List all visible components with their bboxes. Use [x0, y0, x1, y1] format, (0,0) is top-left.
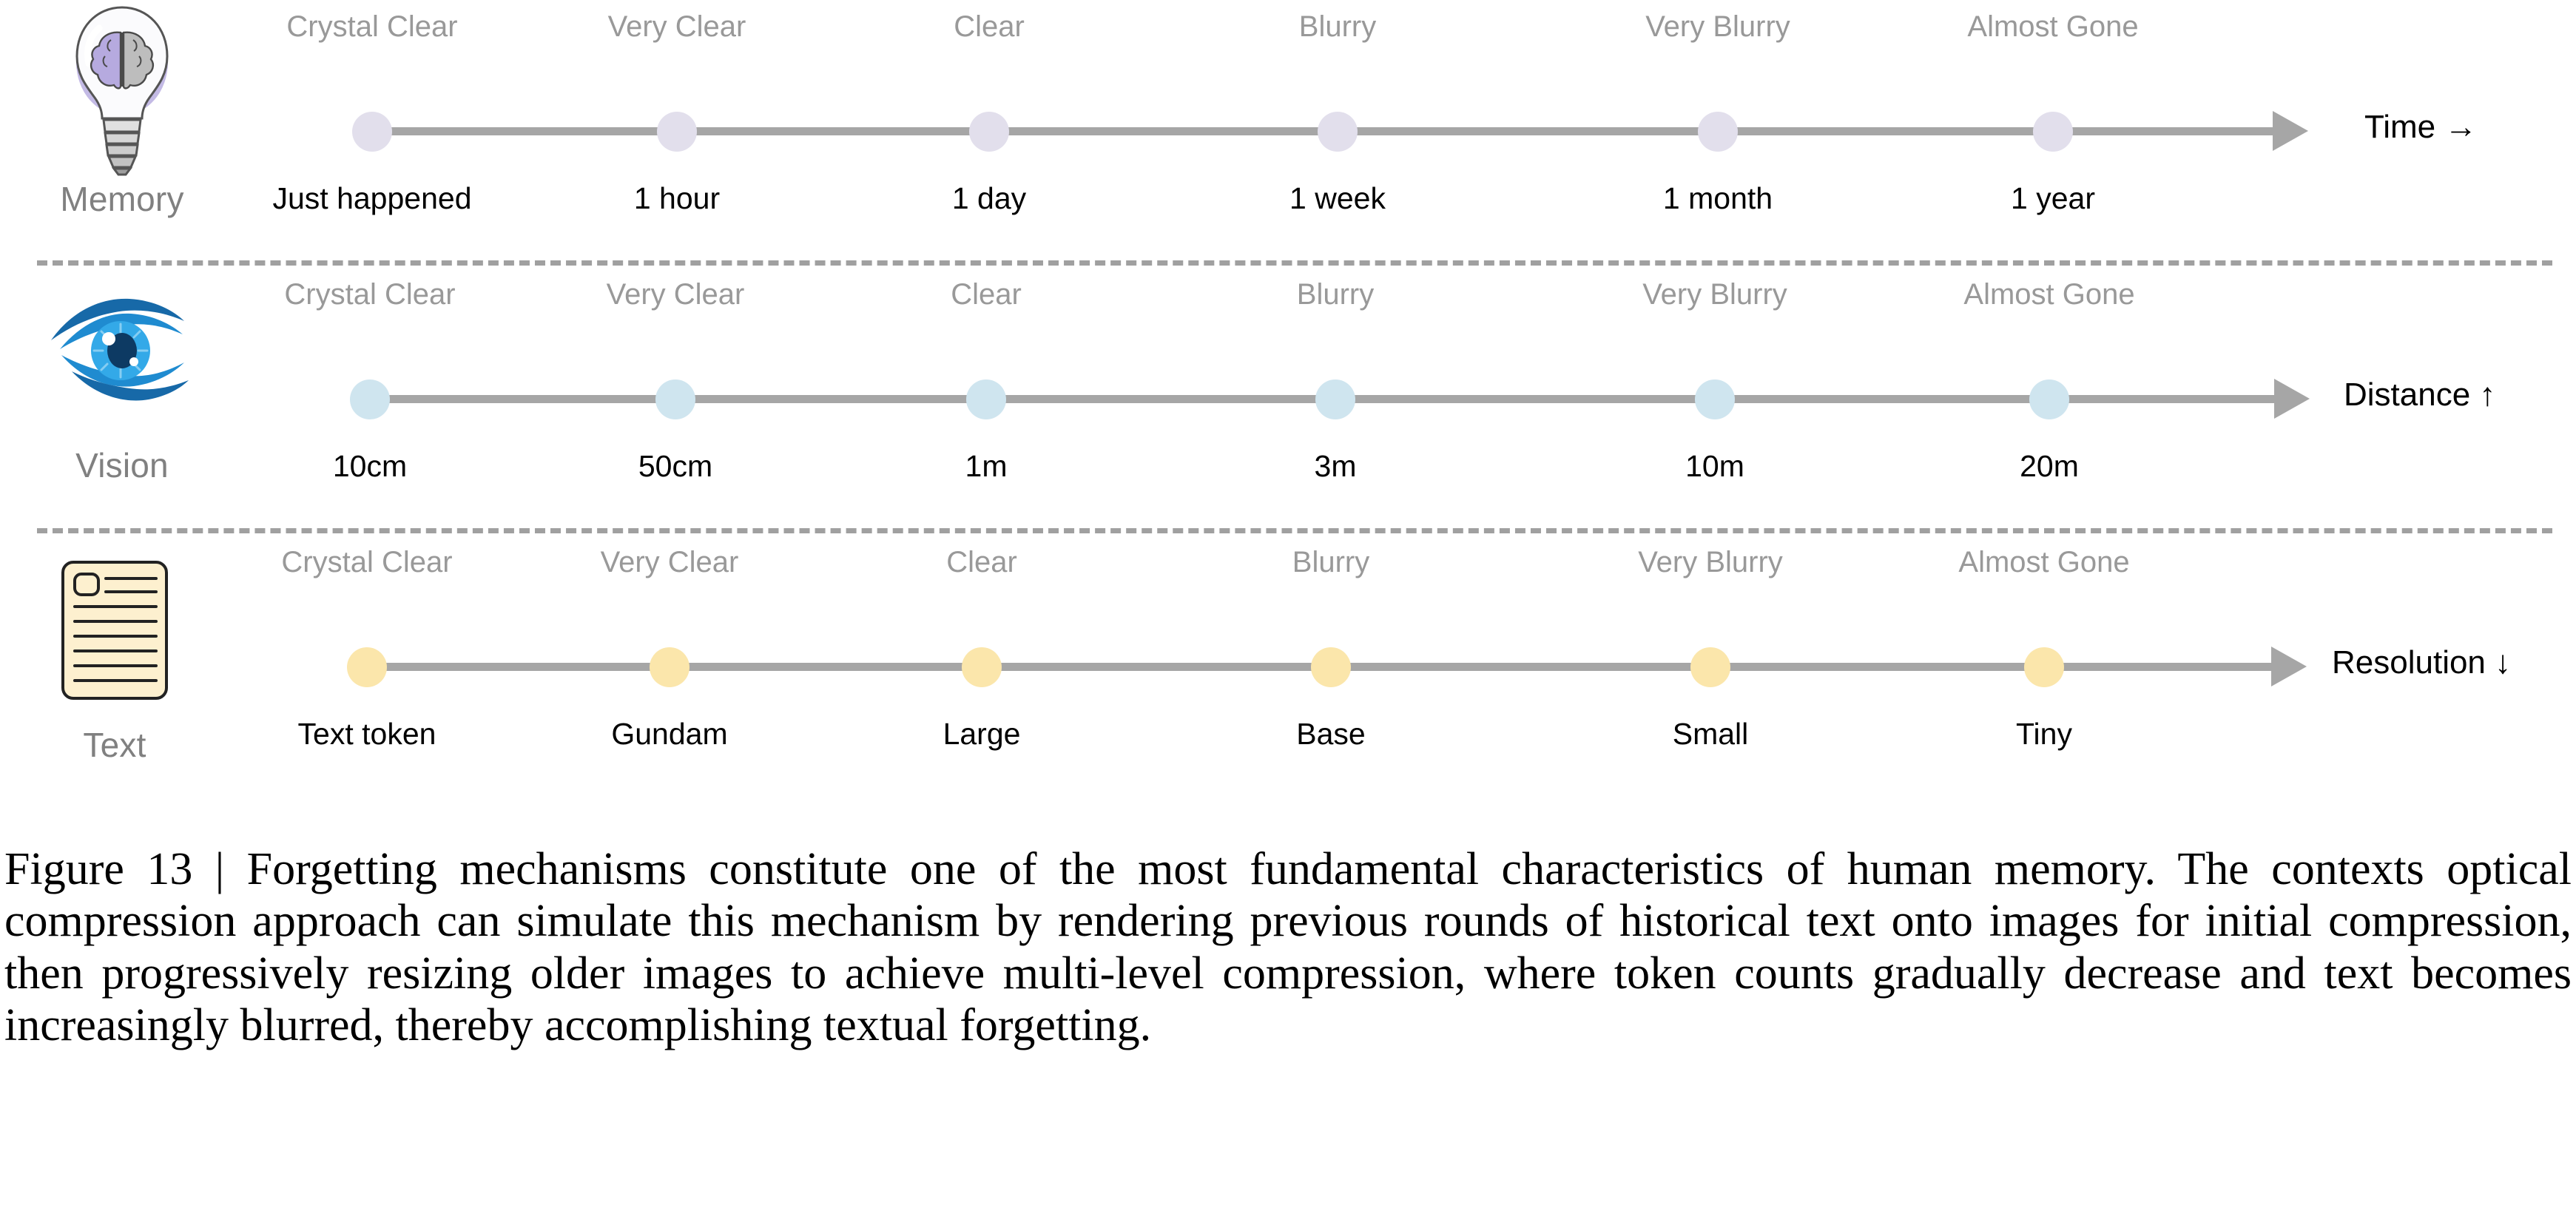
- quality-label: Very Clear: [608, 12, 746, 41]
- quality-label: Almost Gone: [1967, 12, 2138, 41]
- value-label: 20m: [2020, 451, 2079, 482]
- quality-label: Very Clear: [607, 280, 745, 309]
- value-label: 1 day: [952, 183, 1026, 214]
- row-memory: Memory Time → Crystal Clear Just happene…: [0, 0, 2576, 259]
- timeline-dot[interactable]: [1315, 379, 1355, 419]
- value-label: 1 year: [2011, 183, 2095, 214]
- value-label: Large: [943, 719, 1021, 749]
- value-label: Text token: [298, 719, 436, 749]
- quality-label: Blurry: [1297, 280, 1374, 309]
- quality-label: Clear: [954, 12, 1025, 41]
- row-label-memory: Memory: [0, 182, 244, 216]
- text-icon-block: Text: [0, 546, 237, 790]
- timeline-dot[interactable]: [1698, 112, 1738, 152]
- figure-caption: Figure 13 | Forgetting mechanisms consti…: [4, 843, 2572, 1051]
- quality-label: Very Blurry: [1642, 280, 1787, 309]
- vision-icon-block: Vision: [0, 277, 244, 521]
- value-label: 1 week: [1289, 183, 1386, 214]
- timeline-dot[interactable]: [347, 647, 387, 687]
- timeline-dot[interactable]: [655, 379, 695, 419]
- value-label: Base: [1296, 719, 1365, 749]
- row-divider: [37, 260, 2552, 266]
- figure-13: Memory Time → Crystal Clear Just happene…: [0, 0, 2576, 1225]
- value-label: Tiny: [2016, 719, 2072, 749]
- quality-label: Crystal Clear: [284, 280, 455, 309]
- value-label: 50cm: [638, 451, 712, 482]
- quality-label: Blurry: [1299, 12, 1376, 41]
- quality-label: Very Clear: [601, 547, 739, 577]
- value-label: Small: [1673, 719, 1749, 749]
- value-label: 1 month: [1663, 183, 1773, 214]
- timeline-dot[interactable]: [2033, 112, 2073, 152]
- row-label-text: Text: [0, 728, 237, 762]
- vision-axis-caption: Distance ↑: [2344, 377, 2495, 413]
- timeline-dot[interactable]: [350, 379, 390, 419]
- memory-icon-block: Memory: [0, 1, 244, 246]
- lightbulb-brain-icon: [0, 1, 244, 178]
- document-icon: [0, 546, 237, 715]
- value-label: 1m: [965, 451, 1008, 482]
- quality-label: Crystal Clear: [286, 12, 457, 41]
- timeline-dot[interactable]: [1318, 112, 1358, 152]
- quality-label: Almost Gone: [1958, 547, 2129, 577]
- text-axis-caption: Resolution ↓: [2332, 645, 2511, 681]
- value-label: Just happened: [272, 183, 471, 214]
- row-text: Text Resolution ↓ Crystal Clear Text tok…: [0, 536, 2576, 794]
- timeline-dot[interactable]: [2029, 379, 2069, 419]
- quality-label: Clear: [946, 547, 1017, 577]
- timeline-dot[interactable]: [352, 112, 392, 152]
- vision-axis-arrowhead: [2274, 379, 2310, 419]
- quality-label: Crystal Clear: [281, 547, 452, 577]
- timeline-dot[interactable]: [1311, 647, 1351, 687]
- timeline-dot[interactable]: [657, 112, 697, 152]
- row-label-vision: Vision: [0, 448, 244, 482]
- value-label: 1 hour: [634, 183, 720, 214]
- timeline-dot[interactable]: [1690, 647, 1730, 687]
- memory-axis-caption: Time →: [2364, 109, 2477, 145]
- row-divider: [37, 528, 2552, 533]
- eye-icon: [0, 277, 244, 425]
- value-label: 10m: [1685, 451, 1744, 482]
- value-label: Gundam: [611, 719, 727, 749]
- value-label: 3m: [1315, 451, 1357, 482]
- timeline-dot[interactable]: [650, 647, 689, 687]
- quality-label: Almost Gone: [1963, 280, 2134, 309]
- text-axis-arrowhead: [2271, 647, 2307, 686]
- timeline-dot[interactable]: [966, 379, 1006, 419]
- memory-axis-arrowhead: [2273, 111, 2308, 151]
- quality-label: Very Blurry: [1645, 12, 1790, 41]
- value-label: 10cm: [333, 451, 407, 482]
- row-vision: Vision Distance ↑ Crystal Clear 10cm Ver…: [0, 268, 2576, 527]
- quality-label: Blurry: [1292, 547, 1369, 577]
- quality-label: Clear: [951, 280, 1022, 309]
- timeline-dot[interactable]: [962, 647, 1002, 687]
- timeline-dot[interactable]: [969, 112, 1009, 152]
- timeline-dot[interactable]: [1695, 379, 1735, 419]
- timeline-dot[interactable]: [2024, 647, 2064, 687]
- quality-label: Very Blurry: [1638, 547, 1783, 577]
